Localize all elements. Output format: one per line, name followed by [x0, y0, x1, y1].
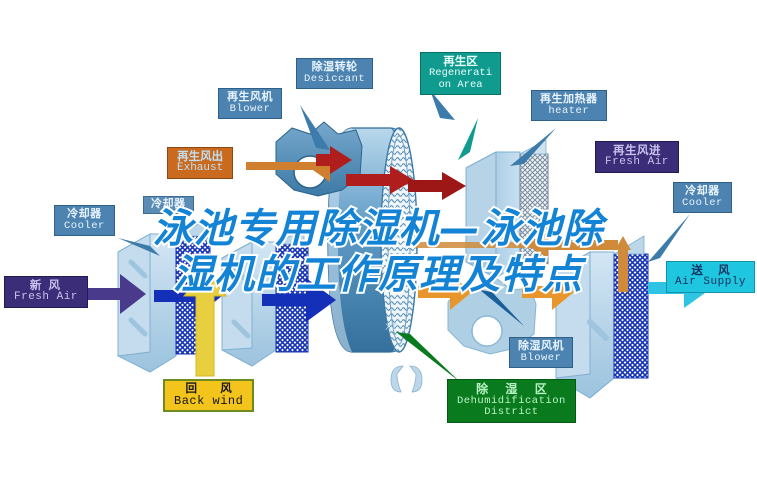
regen-hot-arrow-3 [408, 172, 466, 200]
title-line-1: 泳池专用除湿机—泳池除 [118, 206, 638, 252]
label-en-2: District [457, 407, 566, 418]
callout-back-wind[interactable]: 回 风 Back wind [163, 379, 254, 412]
callout-dehumidification-blower[interactable]: 除湿风机 Blower [509, 337, 573, 368]
label-en: Cooler [64, 221, 105, 232]
callout-cooler-left[interactable]: 冷却器 Cooler [54, 205, 115, 236]
callout-regeneration-fresh-air[interactable]: 再生风进 Fresh Air [595, 141, 679, 173]
label-en: Blower [518, 353, 564, 364]
callout-regeneration-heater[interactable]: 再生加热器 heater [531, 90, 607, 121]
label-en: Fresh Air [14, 292, 78, 304]
label-cn: 除 湿 区 [457, 383, 566, 396]
callout-fresh-air-left[interactable]: 新 风 Fresh Air [4, 276, 88, 308]
callout-cooler-right[interactable]: 冷却器 Cooler [673, 182, 732, 213]
callout-desiccant-wheel[interactable]: 除湿转轮 Desiccant [296, 58, 373, 89]
callout-dehumidification-district[interactable]: 除 湿 区 Dehumidification District [447, 379, 576, 423]
svg-text:XT: XT [385, 323, 397, 333]
label-en: Exhaust [177, 163, 223, 175]
callout-regeneration-exhaust[interactable]: 再生风出 Exhaust [167, 147, 233, 179]
label-en: Cooler [682, 198, 723, 209]
label-en: Back wind [174, 395, 243, 408]
label-en: Blower [227, 104, 273, 115]
label-en-2: on Area [429, 80, 492, 91]
page-title: 泳池专用除湿机—泳池除 湿机的工作原理及特点 [118, 206, 638, 298]
callout-regeneration-area[interactable]: 再生区 Regenerati on Area [420, 52, 501, 95]
callout-air-supply[interactable]: 送 风 Air Supply [666, 261, 755, 293]
label-en: Air Supply [675, 277, 746, 289]
diagram-canvas: XT [0, 0, 757, 488]
label-en: Desiccant [304, 74, 365, 85]
label-en: heater [540, 106, 598, 117]
title-line-2: 湿机的工作原理及特点 [118, 252, 638, 298]
label-en: Fresh Air [605, 157, 669, 169]
callout-regeneration-blower[interactable]: 再生风机 Blower [218, 88, 282, 119]
